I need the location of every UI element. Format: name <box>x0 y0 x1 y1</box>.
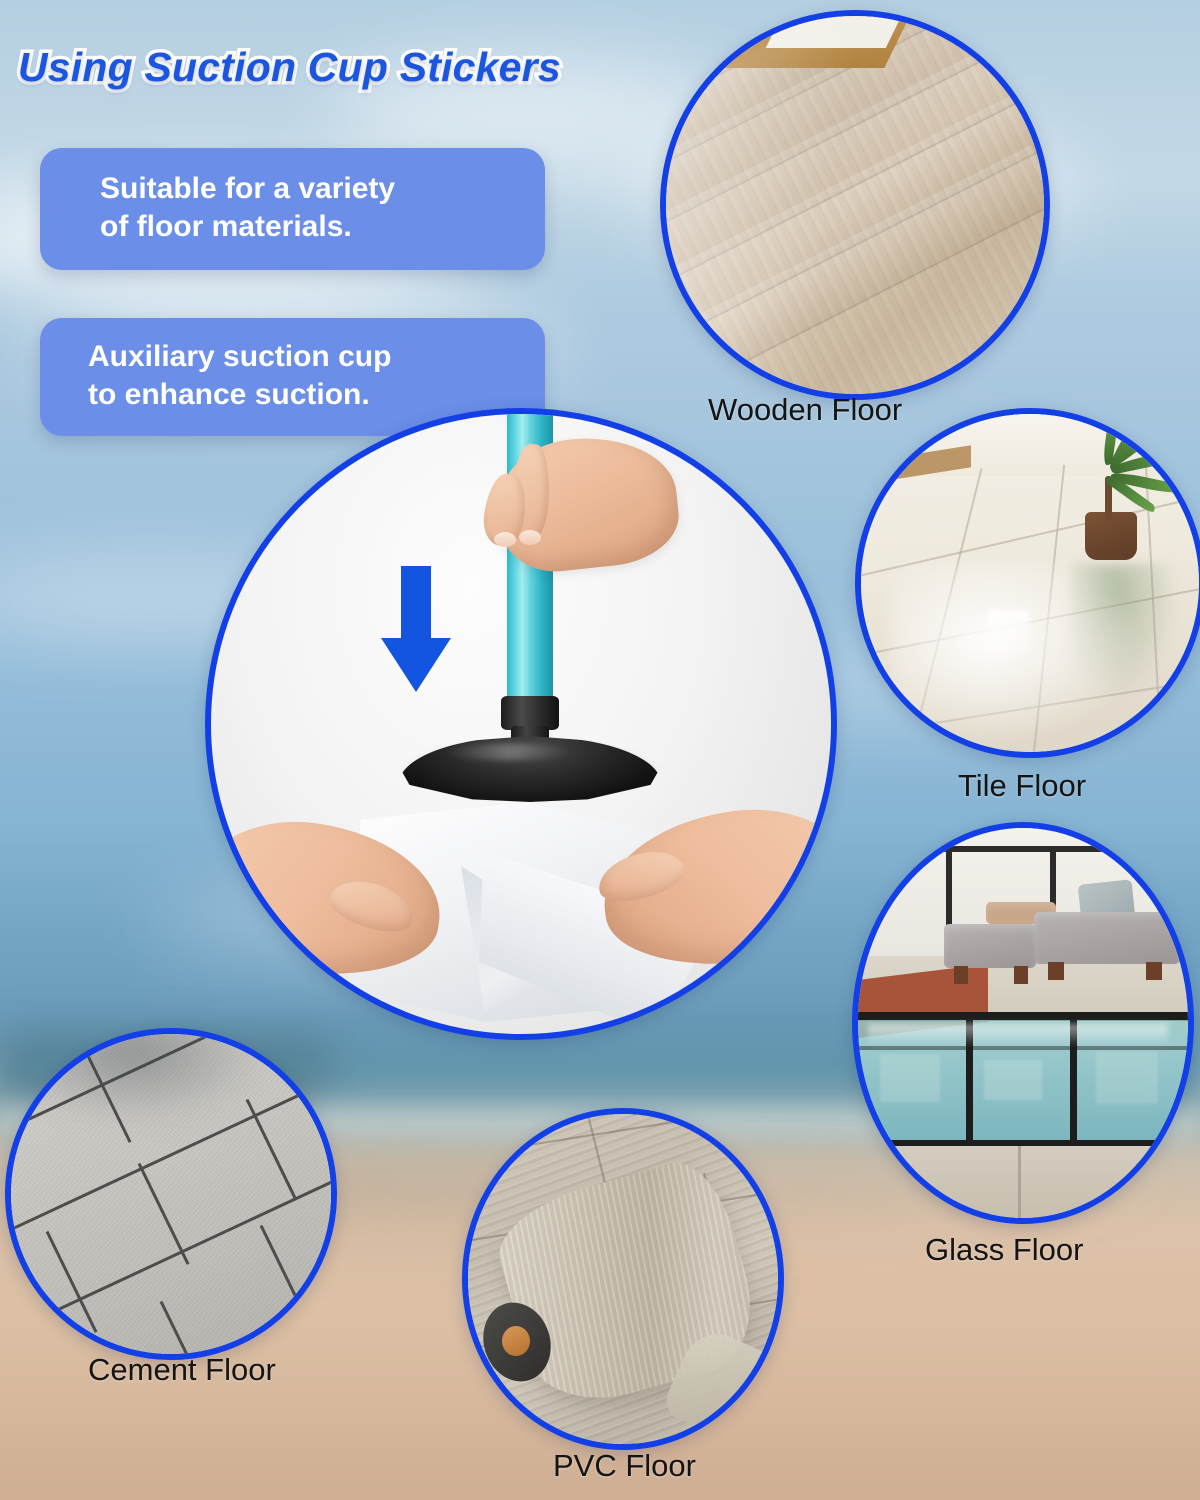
callout-line-1: Auxiliary suction cup <box>88 338 391 376</box>
photo-bubble-glass-floor <box>852 822 1194 1224</box>
tile-gloss-highlight <box>891 564 1151 754</box>
pvc-roll-core <box>502 1326 530 1356</box>
infographic-canvas: Using Suction Cup Stickers Suitable for … <box>0 0 1200 1500</box>
label-cement-floor: Cement Floor <box>88 1352 276 1388</box>
photo-bubble-tile-floor <box>855 408 1200 758</box>
cement-shadow <box>5 1028 271 1124</box>
label-pvc-floor: PVC Floor <box>553 1448 696 1484</box>
lower-floor <box>858 1146 1188 1220</box>
label-glass-floor: Glass Floor <box>925 1232 1083 1268</box>
callout-line-2: to enhance suction. <box>88 376 391 414</box>
suction-cup-highlight <box>443 744 573 760</box>
page-title: Using Suction Cup Stickers <box>18 44 561 91</box>
fingernail <box>494 532 516 547</box>
photo-bubble-wooden-floor <box>660 10 1050 400</box>
callout-line-2: of floor materials. <box>100 208 395 246</box>
down-arrow-icon <box>379 566 453 694</box>
photo-bubble-cement-floor <box>5 1028 337 1360</box>
photo-bubble-application-demo <box>205 408 837 1040</box>
photo-bubble-pvc-floor <box>462 1108 784 1450</box>
callout-line-1: Suitable for a variety <box>100 170 395 208</box>
fingernail <box>519 530 541 545</box>
pole-collar <box>501 696 559 730</box>
callout-suitable-materials: Suitable for a variety of floor material… <box>40 148 545 270</box>
label-tile-floor: Tile Floor <box>958 768 1086 804</box>
